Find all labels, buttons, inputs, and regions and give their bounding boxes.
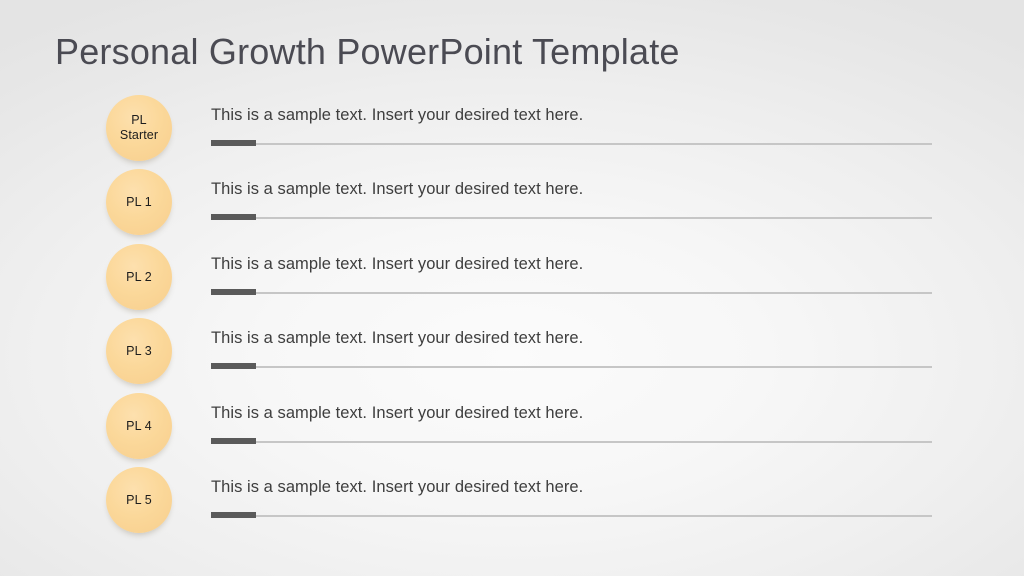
level-badge-label: PL 4 <box>126 419 152 434</box>
level-badge-label: PL 1 <box>126 195 152 210</box>
level-badge-pl-5[interactable]: PL 5 <box>106 467 172 533</box>
list-item[interactable]: PL 2 This is a sample text. Insert your … <box>0 241 1024 315</box>
list-item-text: This is a sample text. Insert your desir… <box>211 478 583 497</box>
divider-accent <box>211 512 256 518</box>
list-item[interactable]: PL Starter This is a sample text. Insert… <box>0 92 1024 166</box>
divider-line <box>211 515 932 517</box>
list-item-text: This is a sample text. Insert your desir… <box>211 106 583 125</box>
divider-accent <box>211 363 256 369</box>
list-item[interactable]: PL 1 This is a sample text. Insert your … <box>0 166 1024 240</box>
list-item-text: This is a sample text. Insert your desir… <box>211 180 583 199</box>
list-item[interactable]: PL 5 This is a sample text. Insert your … <box>0 464 1024 538</box>
list-item[interactable]: PL 3 This is a sample text. Insert your … <box>0 315 1024 389</box>
level-badge-pl-3[interactable]: PL 3 <box>106 318 172 384</box>
level-badge-label: PL 3 <box>126 344 152 359</box>
list-item-text: This is a sample text. Insert your desir… <box>211 329 583 348</box>
list-item[interactable]: PL 4 This is a sample text. Insert your … <box>0 390 1024 464</box>
level-badge-label: PL 5 <box>126 493 152 508</box>
list-item-text: This is a sample text. Insert your desir… <box>211 404 583 423</box>
divider-line <box>211 143 932 145</box>
divider-line <box>211 366 932 368</box>
divider-accent <box>211 140 256 146</box>
divider-accent <box>211 438 256 444</box>
slide-canvas: Personal Growth PowerPoint Template PL S… <box>0 0 1024 576</box>
divider-line <box>211 217 932 219</box>
divider-accent <box>211 214 256 220</box>
page-title: Personal Growth PowerPoint Template <box>55 31 680 73</box>
divider-line <box>211 441 932 443</box>
list-item-text: This is a sample text. Insert your desir… <box>211 255 583 274</box>
divider-accent <box>211 289 256 295</box>
level-badge-label: PL 2 <box>126 270 152 285</box>
level-badge-pl-4[interactable]: PL 4 <box>106 393 172 459</box>
level-badge-pl-1[interactable]: PL 1 <box>106 169 172 235</box>
level-badge-label: PL Starter <box>120 113 158 143</box>
level-badge-pl-starter[interactable]: PL Starter <box>106 95 172 161</box>
divider-line <box>211 292 932 294</box>
level-badge-pl-2[interactable]: PL 2 <box>106 244 172 310</box>
